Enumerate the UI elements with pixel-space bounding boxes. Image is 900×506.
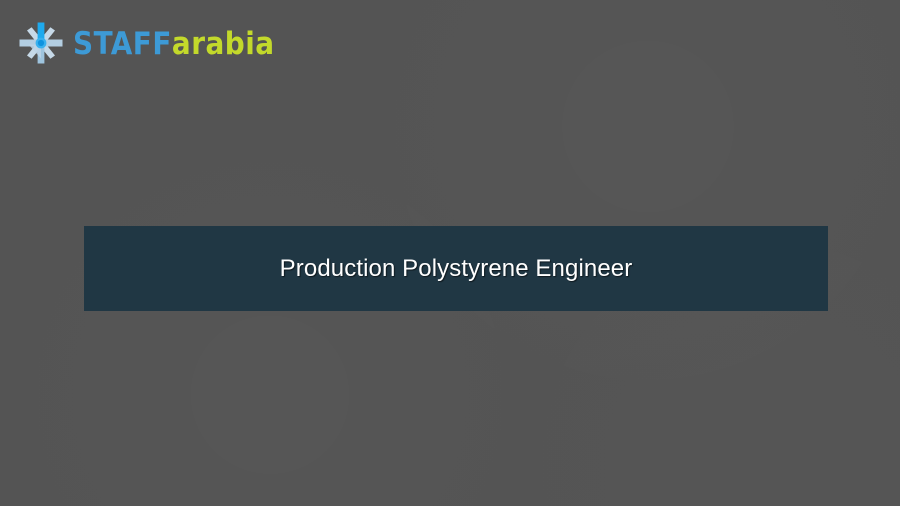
brand-logo[interactable]: STAFFarabia: [18, 21, 275, 65]
job-title-banner: Production Polystyrene Engineer: [84, 226, 828, 311]
brand-word-arabia: arabia: [172, 29, 275, 60]
page-root: STAFFarabia Production Polystyrene Engin…: [0, 0, 900, 506]
snowflake-icon: [18, 21, 64, 65]
brand-wordmark: STAFFarabia: [73, 29, 275, 60]
job-title-text: Production Polystyrene Engineer: [280, 255, 633, 283]
brand-word-staff: STAFF: [73, 29, 172, 60]
